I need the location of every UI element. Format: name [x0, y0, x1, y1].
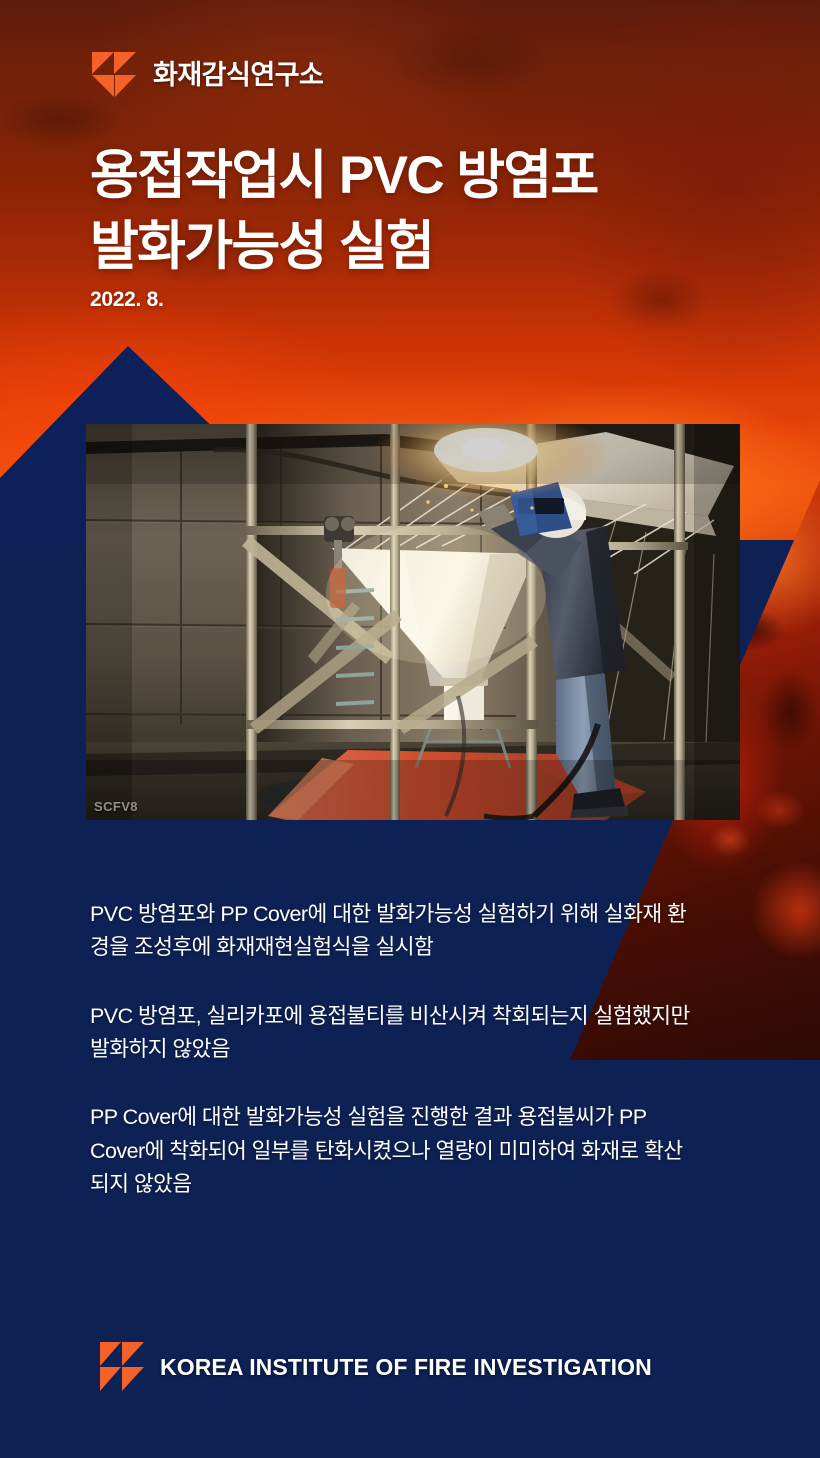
publication-date: 2022. 8.	[90, 288, 770, 312]
kifi-logo-icon	[92, 52, 136, 98]
organization-name: 화재감식연구소	[153, 62, 323, 89]
poster-canvas: 화재감식연구소 용접작업시 PVC 방염포 발화가능성 실험 2022. 8.	[0, 0, 820, 1458]
experiment-photo-illustration	[86, 424, 740, 820]
photo-watermark: SCFV8	[94, 799, 138, 814]
title-block: 용접작업시 PVC 방염포 발화가능성 실험 2022. 8.	[90, 140, 770, 312]
institute-name: KOREA INSTITUTE OF FIRE INVESTIGATION	[160, 1354, 652, 1381]
body-paragraph-3: PP Cover에 대한 발화가능성 실험을 진행한 결과 용접불씨가 PP C…	[90, 1101, 700, 1201]
body-paragraph-2: PVC 방염포, 실리카포에 용접불티를 비산시켜 착회되는지 실험했지만 발화…	[90, 1000, 700, 1067]
body-copy: PVC 방염포와 PP Cover에 대한 발화가능성 실험하기 위해 실화재 …	[90, 898, 700, 1201]
kifi-logo-icon	[100, 1342, 144, 1392]
page-title-line-1: 용접작업시 PVC 방염포	[90, 140, 770, 211]
body-paragraph-1: PVC 방염포와 PP Cover에 대한 발화가능성 실험하기 위해 실화재 …	[90, 898, 700, 965]
experiment-photo: SCFV8	[86, 424, 740, 820]
header: 화재감식연구소	[92, 52, 323, 98]
footer: KOREA INSTITUTE OF FIRE INVESTIGATION	[100, 1342, 652, 1392]
page-title-line-2: 발화가능성 실험	[90, 211, 770, 282]
